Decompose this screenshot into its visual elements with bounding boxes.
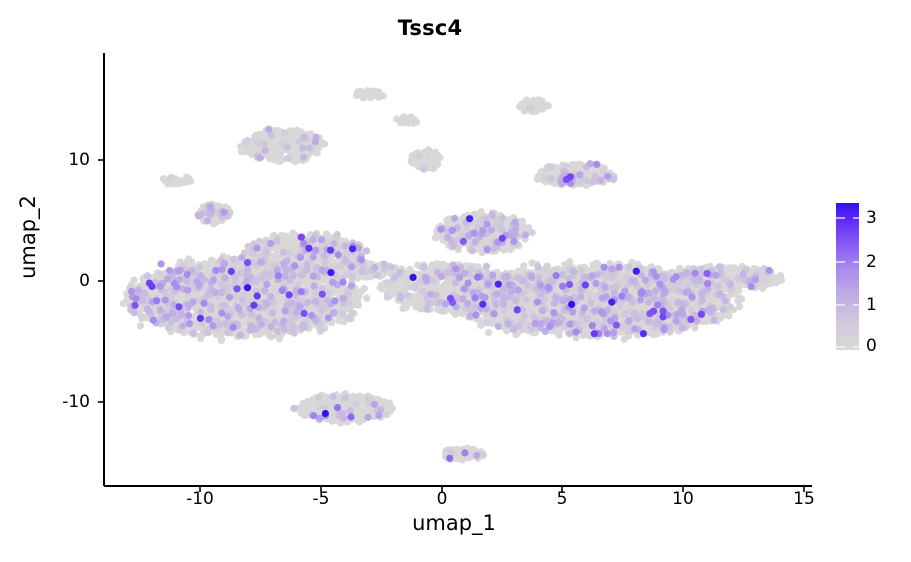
ytick-label: 0	[38, 271, 90, 291]
colorbar-tick-label: 1	[866, 295, 906, 315]
colorbar-tick-label: 0	[866, 336, 906, 356]
ytick-label: 10	[38, 150, 90, 170]
colorbar-gradient	[836, 203, 859, 350]
xtick-label: 15	[776, 489, 832, 509]
xtick-label: 10	[655, 489, 711, 509]
xtick-label: 0	[414, 489, 470, 509]
xtick-label: 5	[534, 489, 590, 509]
colorbar-tick-label: 2	[866, 252, 906, 272]
page-title: Tssc4	[0, 16, 860, 40]
scatter-points	[120, 87, 785, 463]
xtick-label: -5	[293, 489, 349, 509]
x-axis-label: umap_1	[104, 511, 804, 535]
scatter-plot-area	[0, 0, 911, 562]
figure-canvas: Tssc4	[0, 0, 911, 562]
ytick-label: -10	[38, 392, 90, 412]
y-axis-label: umap_2	[16, 147, 40, 327]
xtick-label: -10	[172, 489, 228, 509]
colorbar-tick-label: 3	[866, 208, 906, 228]
